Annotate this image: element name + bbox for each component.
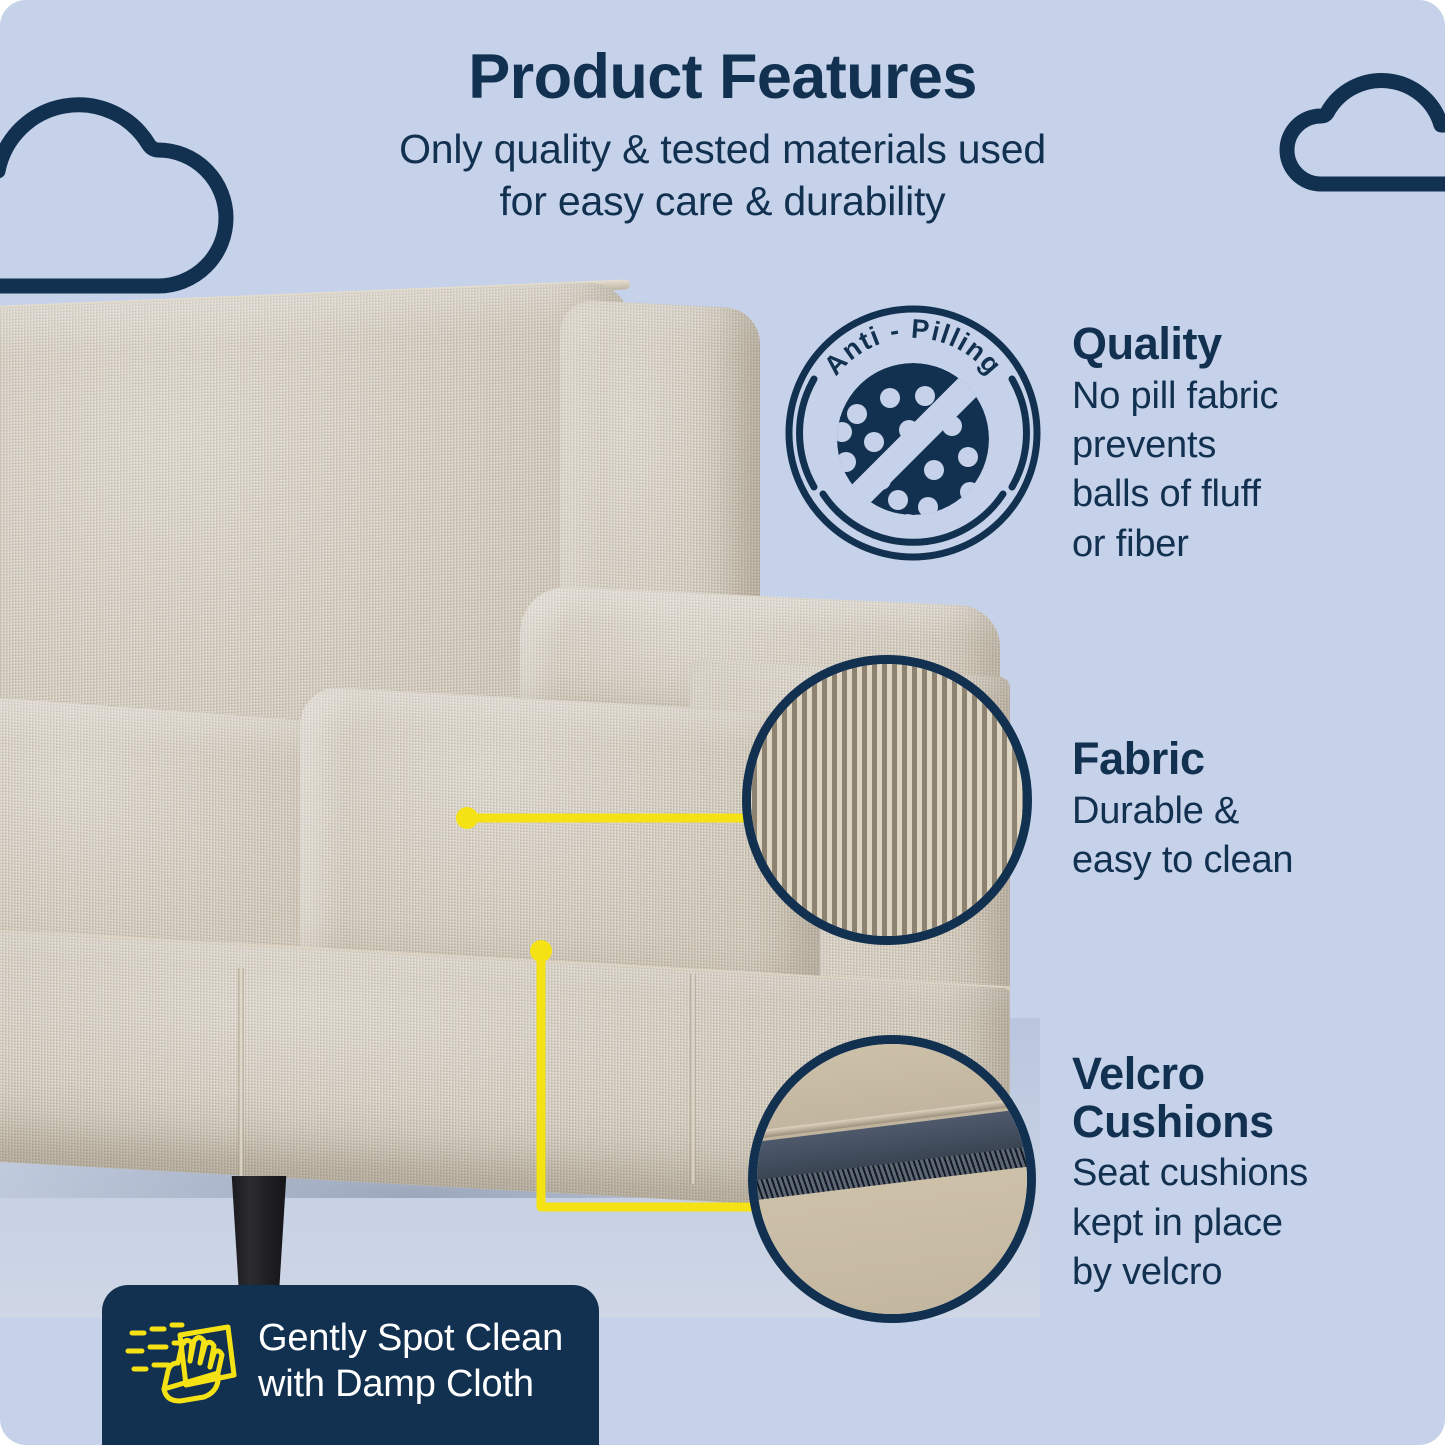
fabric-weave-texture — [747, 660, 1027, 940]
feature-quality-body-line-4: or fiber — [1072, 520, 1402, 569]
feature-quality-heading: Quality — [1072, 320, 1402, 368]
feature-velcro-body-line-3: by velcro — [1072, 1248, 1412, 1297]
care-instruction-line-2: with Damp Cloth — [258, 1361, 563, 1407]
page-subtitle-line-1: Only quality & tested materials used — [0, 123, 1445, 175]
fabric-weave-closeup-circle — [742, 655, 1032, 945]
sofa-base-seam-vertical — [238, 968, 244, 1183]
care-instruction-badge: Gently Spot Clean with Damp Cloth — [102, 1285, 599, 1445]
feature-quality-body: No pill fabric prevents balls of fluff o… — [1072, 372, 1402, 570]
feature-velcro: Velcro Cushions Seat cushions kept in pl… — [1072, 1050, 1412, 1298]
feature-velcro-body-line-1: Seat cushions — [1072, 1149, 1412, 1198]
feature-fabric-body-line-1: Durable & — [1072, 787, 1412, 836]
infographic-canvas: Product Features Only quality & tested m… — [0, 0, 1445, 1445]
care-instruction-line-1: Gently Spot Clean — [258, 1315, 563, 1361]
feature-velcro-body: Seat cushions kept in place by velcro — [1072, 1149, 1412, 1297]
feature-velcro-heading-line-2: Cushions — [1072, 1098, 1412, 1146]
feature-velcro-heading-line-1: Velcro — [1072, 1050, 1412, 1098]
page-title: Product Features — [0, 44, 1445, 111]
feature-fabric-heading: Fabric — [1072, 735, 1412, 783]
hand-wiping-cloth-icon — [124, 1313, 242, 1409]
feature-velcro-heading: Velcro Cushions — [1072, 1050, 1412, 1145]
page-subtitle-line-2: for easy care & durability — [0, 175, 1445, 227]
feature-fabric-body: Durable & easy to clean — [1072, 787, 1412, 886]
feature-velcro-body-line-2: kept in place — [1072, 1199, 1412, 1248]
header: Product Features Only quality & tested m… — [0, 44, 1445, 228]
feature-fabric-body-line-2: easy to clean — [1072, 836, 1412, 885]
care-instruction-label: Gently Spot Clean with Damp Cloth — [258, 1315, 563, 1408]
feature-quality-body-line-2: prevents — [1072, 421, 1402, 470]
feature-fabric: Fabric Durable & easy to clean — [1072, 735, 1412, 885]
feature-quality: Quality No pill fabric prevents balls of… — [1072, 320, 1402, 569]
page-subtitle: Only quality & tested materials used for… — [0, 123, 1445, 228]
velcro-strip-closeup-circle — [748, 1035, 1036, 1323]
feature-quality-body-line-3: balls of fluff — [1072, 470, 1402, 519]
sofa-base-seam-vertical-2 — [690, 974, 696, 1184]
feature-quality-body-line-1: No pill fabric — [1072, 372, 1402, 421]
anti-pilling-badge-icon: Anti - Pilling — [782, 302, 1044, 564]
